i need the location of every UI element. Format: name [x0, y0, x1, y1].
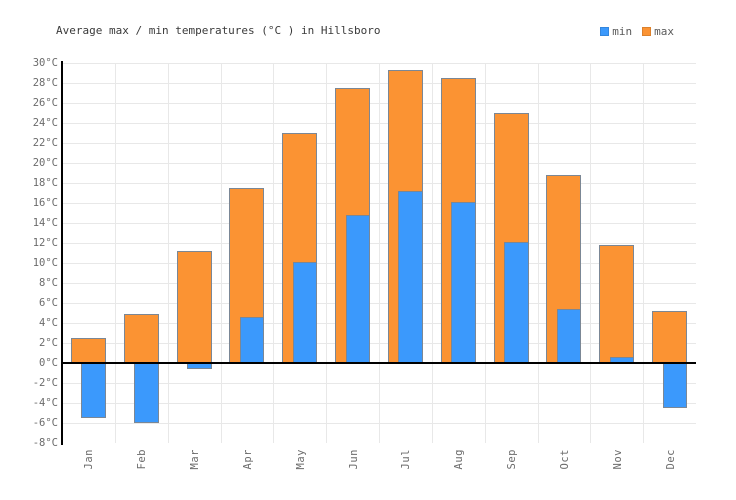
bar-min-feb[interactable] — [134, 363, 158, 423]
y-tick-label: 0°C — [6, 357, 58, 369]
bar-min-apr[interactable] — [240, 317, 264, 363]
y-tick-label: 8°C — [6, 277, 58, 289]
legend-item-max[interactable]: max — [642, 25, 674, 38]
legend-label-max: max — [654, 25, 674, 38]
y-tick-label: 20°C — [6, 157, 58, 169]
y-tick-label: 28°C — [6, 77, 58, 89]
legend-swatch-min-icon — [600, 27, 609, 36]
x-tick-label-mar: Mar — [189, 449, 201, 469]
y-tick-label: -4°C — [6, 397, 58, 409]
zero-baseline — [62, 362, 696, 364]
y-tick-label: 18°C — [6, 177, 58, 189]
y-tick-label: 14°C — [6, 217, 58, 229]
y-tick-label: 22°C — [6, 137, 58, 149]
x-tick-label-sep: Sep — [506, 449, 518, 469]
bar-min-oct[interactable] — [557, 309, 581, 363]
y-tick-label: -2°C — [6, 377, 58, 389]
bar-min-jun[interactable] — [346, 215, 370, 363]
bar-min-aug[interactable] — [451, 202, 475, 363]
legend-label-min: min — [612, 25, 632, 38]
x-tick-label-oct: Oct — [559, 449, 571, 469]
bar-min-jul[interactable] — [398, 191, 422, 363]
x-tick-label-feb: Feb — [136, 449, 148, 469]
x-tick-label-aug: Aug — [453, 449, 465, 469]
temperature-bar-chart: Average max / min temperatures (°C ) in … — [0, 0, 736, 500]
y-tick-label: -6°C — [6, 417, 58, 429]
y-tick-label: -8°C — [6, 437, 58, 449]
y-tick-label: 16°C — [6, 197, 58, 209]
bars-layer — [62, 63, 696, 443]
legend-item-min[interactable]: min — [600, 25, 632, 38]
y-tick-label: 6°C — [6, 297, 58, 309]
plot-area — [62, 63, 696, 443]
bar-max-dec[interactable] — [652, 311, 687, 363]
y-tick-label: 26°C — [6, 97, 58, 109]
y-tick-label: 30°C — [6, 57, 58, 69]
x-tick-label-jul: Jul — [400, 449, 412, 469]
bar-max-jan[interactable] — [71, 338, 106, 363]
x-tick-label-apr: Apr — [242, 449, 254, 469]
y-tick-label: 10°C — [6, 257, 58, 269]
x-tick-label-nov: Nov — [612, 449, 624, 469]
y-tick-label: 24°C — [6, 117, 58, 129]
legend-swatch-max-icon — [642, 27, 651, 36]
bar-min-may[interactable] — [293, 262, 317, 363]
bar-max-nov[interactable] — [599, 245, 634, 363]
y-axis-line — [61, 61, 63, 445]
bar-min-sep[interactable] — [504, 242, 528, 363]
y-tick-label: 4°C — [6, 317, 58, 329]
y-tick-label: 2°C — [6, 337, 58, 349]
chart-legend: min max — [600, 25, 674, 38]
x-tick-label-jun: Jun — [348, 449, 360, 469]
x-tick-label-dec: Dec — [665, 449, 677, 469]
y-axis-tick-labels: 30°C28°C26°C24°C22°C20°C18°C16°C14°C12°C… — [0, 0, 58, 500]
x-tick-label-jan: Jan — [83, 449, 95, 469]
bar-max-mar[interactable] — [177, 251, 212, 363]
bar-min-jan[interactable] — [81, 363, 105, 418]
x-tick-label-may: May — [295, 449, 307, 469]
bar-max-feb[interactable] — [124, 314, 159, 363]
x-axis-tick-labels: JanFebMarAprMayJunJulAugSepOctNovDec — [62, 449, 696, 499]
chart-title: Average max / min temperatures (°C ) in … — [56, 24, 381, 37]
bar-min-dec[interactable] — [663, 363, 687, 408]
y-tick-label: 12°C — [6, 237, 58, 249]
